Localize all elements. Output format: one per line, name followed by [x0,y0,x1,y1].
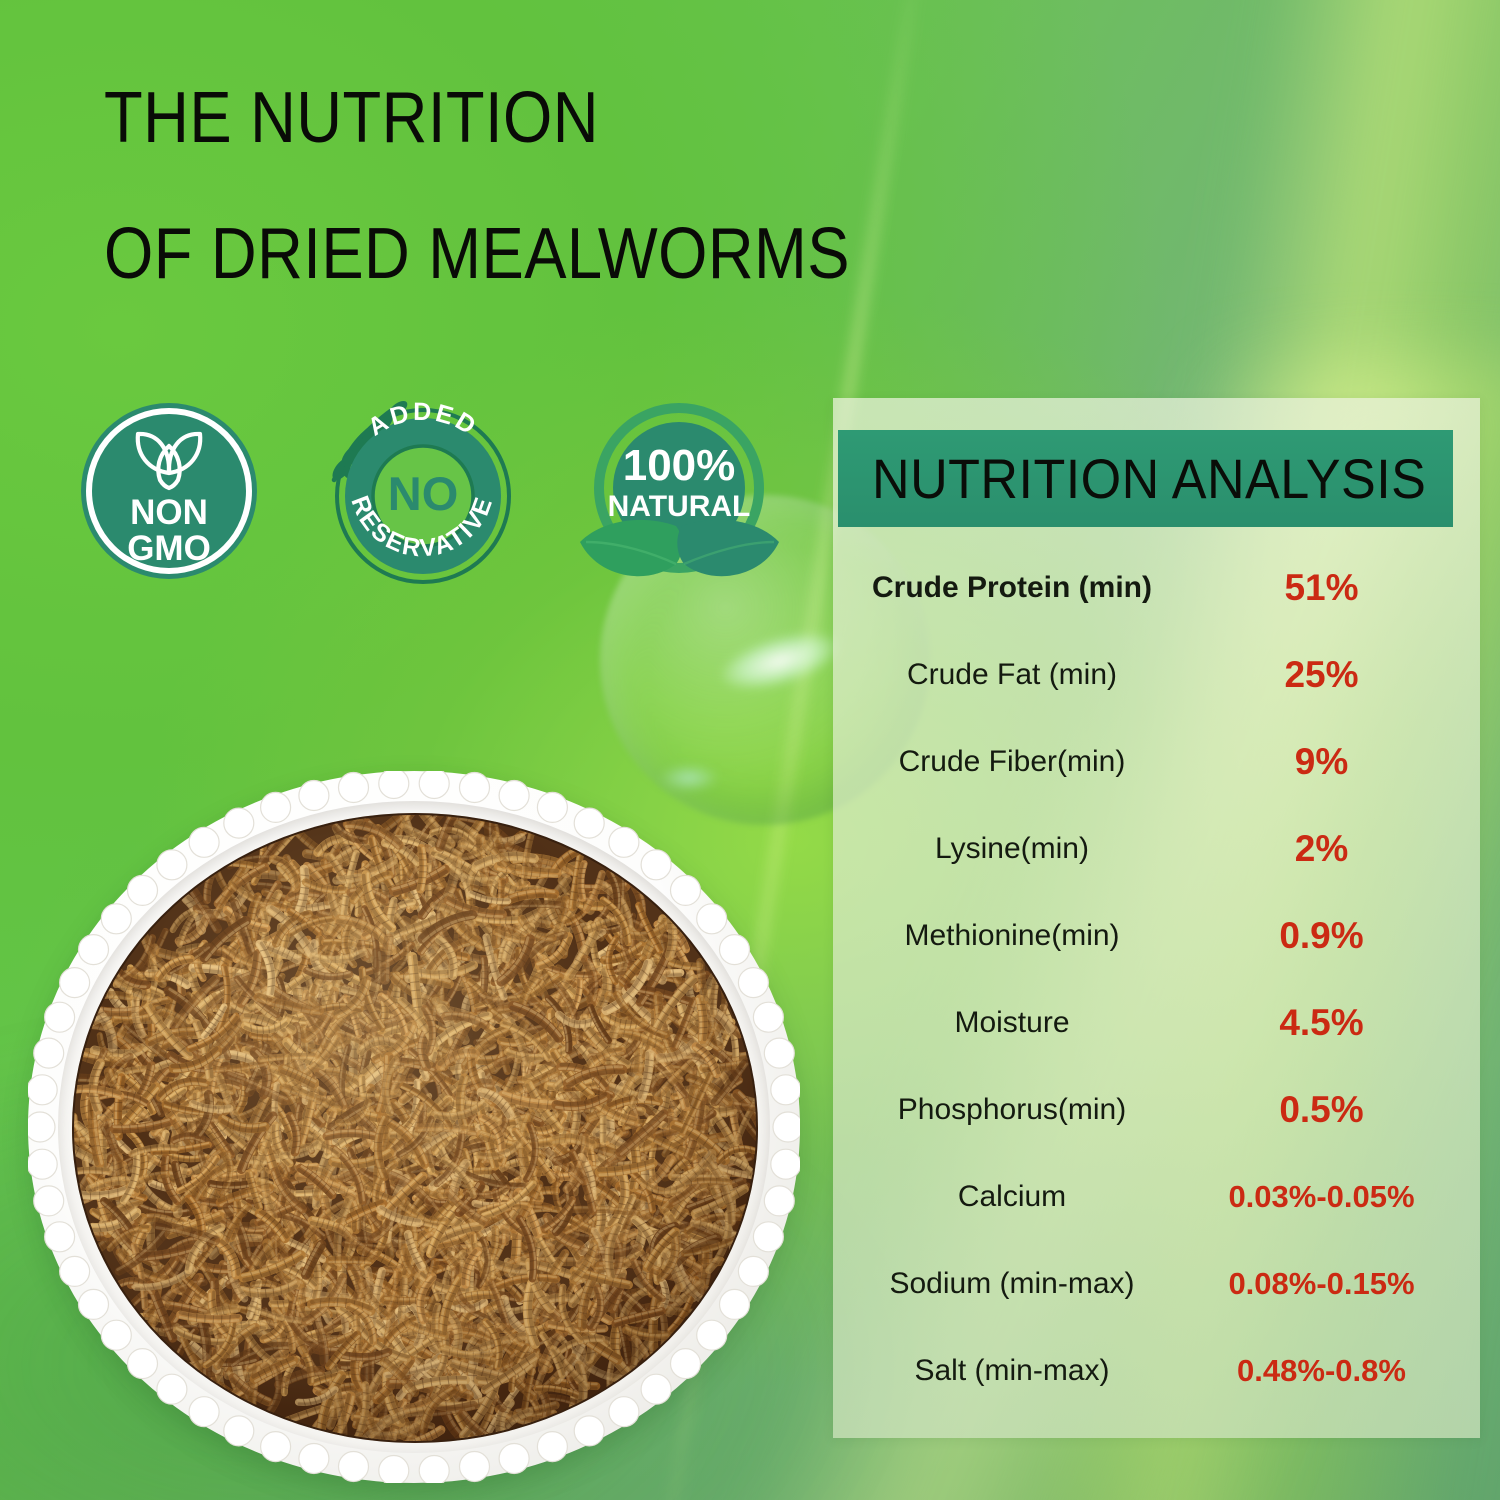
nutrition-label: Methionine(min) [838,919,1190,953]
badge-non-gmo-line2: GMO [127,529,211,568]
nutrition-row: Calcium0.03%-0.05% [838,1153,1453,1240]
nutrition-label: Salt (min-max) [838,1354,1190,1388]
dried-mealworms [72,813,758,1443]
nutrition-row: Methionine(min)0.9% [838,892,1453,979]
badge-no-center-text: NO [388,467,459,520]
nutrition-value: 4.5% [1190,1002,1453,1044]
badge-natural-line1: 100% [623,441,736,490]
bowl-of-dried-mealworms [6,745,816,1485]
nutrition-value: 2% [1190,828,1453,870]
nutrition-row: Crude Fiber(min)9% [838,718,1453,805]
nutrition-value: 9% [1190,741,1453,783]
nutrition-label: Phosphorus(min) [838,1093,1190,1127]
nutrition-row: Moisture4.5% [838,979,1453,1066]
badge-non-gmo: NON GMO [78,400,260,587]
nutrition-row: Salt (min-max)0.48%-0.8% [838,1327,1453,1414]
nutrition-value: 25% [1190,654,1453,696]
nutrition-analysis-header: NUTRITION ANALYSIS [838,430,1453,527]
nutrition-value: 0.5% [1190,1089,1453,1131]
headline: THE NUTRITION OF DRIED MEALWORMS [104,82,1004,290]
nutrition-label: Crude Fat (min) [838,658,1190,692]
headline-line-1: THE NUTRITION [104,82,896,154]
headline-line-2: OF DRIED MEALWORMS [104,218,896,290]
nutrition-analysis-title: NUTRITION ANALYSIS [872,446,1426,511]
badge-non-gmo-line1: NON [130,493,208,532]
nutrition-label: Lysine(min) [838,832,1190,866]
nutrition-rows: Crude Protein (min)51%Crude Fat (min)25%… [838,544,1453,1414]
nutrition-label: Calcium [838,1180,1190,1214]
nutrition-value: 51% [1190,567,1453,609]
nutrition-label: Sodium (min-max) [838,1267,1190,1301]
nutrition-row: Lysine(min)2% [838,805,1453,892]
nutrition-value: 0.48%-0.8% [1190,1353,1453,1389]
nutrition-value: 0.9% [1190,915,1453,957]
certification-badges: NON GMO [78,392,818,602]
nutrition-row: Crude Fat (min)25% [838,631,1453,718]
nutrition-label: Moisture [838,1006,1190,1040]
nutrition-row: Phosphorus(min)0.5% [838,1066,1453,1153]
nutrition-label: Crude Protein (min) [838,571,1190,605]
nutrition-value: 0.03%-0.05% [1190,1179,1453,1215]
nutrition-analysis-panel: NUTRITION ANALYSIS Crude Protein (min)51… [833,398,1480,1438]
nutrition-label: Crude Fiber(min) [838,745,1190,779]
nutrition-row: Crude Protein (min)51% [838,544,1453,631]
nutrition-value: 0.08%-0.15% [1190,1266,1453,1302]
badge-100-natural: 100% NATURAL [572,402,787,597]
badge-natural-line2: NATURAL [608,490,751,523]
nutrition-row: Sodium (min-max)0.08%-0.15% [838,1240,1453,1327]
badge-no-added-preservatives: ADDED PRESERVATIVES NO [320,392,525,597]
